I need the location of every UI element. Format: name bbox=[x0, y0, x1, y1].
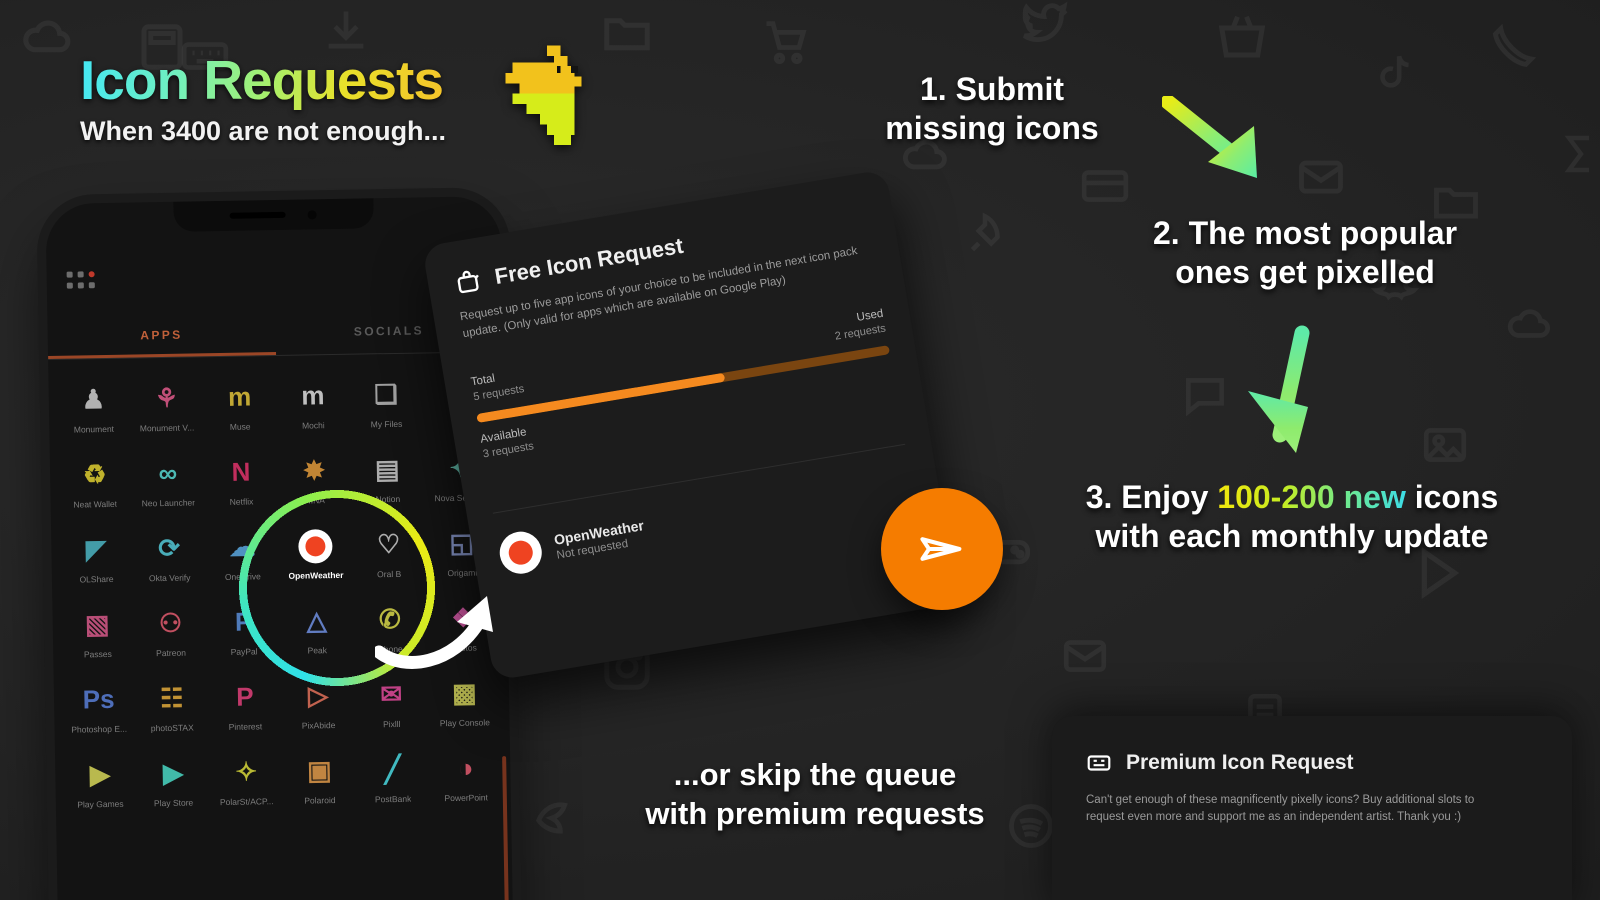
page-title: Icon Requests bbox=[80, 52, 446, 110]
app-icon-cell[interactable]: △Peak bbox=[280, 593, 354, 663]
app-glyph-icon: ⚇ bbox=[151, 604, 190, 643]
step-3-prefix: Enjoy bbox=[1121, 479, 1217, 515]
bg-twitter-icon bbox=[1020, 0, 1072, 52]
grid-dot bbox=[89, 282, 95, 288]
app-icon-cell[interactable]: ☷photoSTAX bbox=[135, 671, 209, 741]
app-icon-label: Muse bbox=[230, 421, 251, 431]
app-icon-cell[interactable]: ♟Monument bbox=[56, 372, 130, 442]
app-icon-cell[interactable]: ◤OLShare bbox=[59, 522, 133, 592]
bg-cloud3-icon bbox=[1505, 300, 1555, 350]
bg-dragon-icon bbox=[530, 790, 582, 842]
app-glyph-icon: ◤ bbox=[77, 530, 116, 569]
premium-card-description: Can't get enough of these magnificently … bbox=[1086, 792, 1506, 827]
app-icon-cell[interactable]: ▶Play Store bbox=[136, 746, 210, 816]
app-icon-label: OpenWeather bbox=[288, 569, 343, 580]
app-icon-label: Passes bbox=[84, 648, 112, 658]
request-item-text: OpenWeather Not requested bbox=[553, 517, 647, 562]
app-icon-cell[interactable]: OpenWeather bbox=[278, 518, 352, 588]
send-request-fab[interactable] bbox=[881, 488, 1003, 610]
app-icon-cell[interactable]: mMochi bbox=[276, 368, 350, 438]
app-glyph-icon: ♡ bbox=[369, 525, 408, 564]
app-icon-cell[interactable]: PPinterest bbox=[208, 669, 282, 739]
step-2-text: 2. The most popular ones get pixelled bbox=[1120, 214, 1490, 292]
openweather-dot bbox=[507, 539, 535, 567]
app-icon-cell[interactable]: ✉Pixlll bbox=[354, 667, 428, 737]
app-glyph-icon: ♻ bbox=[75, 455, 114, 494]
skip-queue-line-2: with premium requests bbox=[595, 795, 1035, 834]
grid-dot bbox=[78, 271, 84, 277]
app-glyph-icon: ▤ bbox=[368, 450, 407, 489]
grid-dot bbox=[67, 282, 73, 288]
curved-arrow-icon bbox=[375, 580, 505, 670]
step-1-text: 1. Submit missing icons bbox=[862, 70, 1122, 148]
progress-used-value: 2 requests bbox=[834, 322, 887, 345]
app-icon-label: Peak bbox=[308, 645, 328, 655]
app-icon-label: OneDrive bbox=[225, 571, 261, 582]
bg-basket-icon bbox=[1215, 10, 1269, 64]
app-icon-label: Pinterest bbox=[229, 721, 263, 732]
skip-queue-line-1: ...or skip the queue bbox=[595, 756, 1035, 795]
app-icon-cell[interactable]: ▷PixAbide bbox=[281, 668, 355, 738]
app-glyph-icon: m bbox=[294, 377, 333, 416]
bg-phone-icon bbox=[1490, 20, 1542, 72]
send-paper-plane-icon bbox=[916, 523, 968, 575]
grid-dot bbox=[67, 271, 73, 277]
app-glyph-icon: ▶ bbox=[81, 755, 120, 794]
app-icon-cell[interactable]: ⚘Monument V... bbox=[130, 371, 204, 441]
step-1-number: 1. bbox=[920, 71, 947, 107]
skip-queue-text: ...or skip the queue with premium reques… bbox=[595, 756, 1035, 834]
app-icon-label: Play Console bbox=[440, 717, 490, 728]
premium-icon-request-card[interactable]: Premium Icon Request Can't get enough of… bbox=[1052, 716, 1572, 900]
bg-rocket-icon bbox=[960, 210, 1010, 260]
app-icon-cell[interactable]: ▣Polaroid bbox=[282, 743, 356, 813]
app-icon-cell[interactable]: ▩Play Console bbox=[427, 666, 501, 736]
app-icon-label: Oral B bbox=[377, 568, 401, 578]
app-glyph-icon: P bbox=[224, 603, 263, 642]
app-glyph-icon: ╱ bbox=[373, 750, 412, 789]
bg-mail-icon bbox=[1295, 150, 1347, 202]
app-glyph-icon: ✉ bbox=[372, 675, 411, 714]
app-icon-cell[interactable]: ▶Play Games bbox=[63, 747, 137, 817]
bg-cloud-icon bbox=[20, 10, 76, 66]
app-glyph-icon: ◑ bbox=[446, 749, 485, 788]
bg-chat-icon bbox=[1180, 370, 1230, 420]
app-icon-label: Pixlll bbox=[383, 718, 401, 728]
app-glyph-icon: ▶ bbox=[154, 754, 193, 793]
app-icon-cell[interactable]: PsPhotoshop E... bbox=[62, 672, 136, 742]
app-icon-cell[interactable]: ✧PolarSt/ACP... bbox=[209, 744, 283, 814]
app-icon-cell[interactable]: NNetflix bbox=[204, 445, 278, 515]
step-3-highlight: 100-200 new bbox=[1217, 479, 1406, 515]
app-glyph-icon: ▧ bbox=[78, 605, 117, 644]
app-glyph-icon: ☷ bbox=[152, 679, 191, 718]
app-icon-label: PixAbide bbox=[302, 720, 336, 731]
app-icon-label: Monument bbox=[74, 423, 114, 434]
app-glyph-icon: ❑ bbox=[367, 375, 406, 414]
app-glyph-icon: ▩ bbox=[445, 674, 484, 713]
app-icon-cell[interactable]: PPayPal bbox=[207, 594, 281, 664]
pixel-bird-icon bbox=[485, 42, 595, 152]
app-icon-cell[interactable]: ▤Notion bbox=[350, 442, 424, 512]
app-icon-label: Origami bbox=[447, 567, 477, 578]
bg-cart-icon bbox=[760, 15, 812, 67]
grid-dots-icon[interactable] bbox=[67, 271, 95, 288]
app-icon-label: My Files bbox=[371, 418, 403, 429]
grid-dot bbox=[78, 282, 84, 288]
grid-dot-accent bbox=[89, 271, 95, 277]
app-icon-label: PayPal bbox=[231, 646, 258, 656]
app-glyph-icon: P bbox=[226, 678, 265, 717]
app-glyph-icon: N bbox=[222, 453, 261, 492]
app-icon-label: Netflix bbox=[230, 496, 254, 506]
app-icon-cell[interactable]: ◑PowerPoint bbox=[429, 741, 503, 811]
app-icon-cell[interactable]: ╱PostBank bbox=[356, 742, 430, 812]
openweather-icon bbox=[497, 528, 545, 576]
request-list-item[interactable]: OpenWeather Not requested bbox=[493, 445, 916, 577]
app-icon-label: photoSTAX bbox=[151, 722, 194, 733]
app-icon-label: Play Store bbox=[154, 797, 193, 808]
step-2-number: 2. bbox=[1153, 215, 1180, 251]
ticket-icon bbox=[1086, 750, 1112, 776]
app-icon-label: OLShare bbox=[79, 573, 113, 584]
app-glyph-icon: m bbox=[220, 378, 259, 417]
step-1-label: Submit missing icons bbox=[885, 71, 1098, 146]
bg-mail2-icon bbox=[1060, 630, 1110, 680]
app-icon-label: PostBank bbox=[375, 793, 412, 804]
step-3-text: 3. Enjoy 100-200 new icons with each mon… bbox=[1082, 478, 1502, 556]
app-icon-label: Patreon bbox=[156, 647, 186, 658]
app-glyph-icon: ▣ bbox=[300, 752, 339, 791]
bg-card-icon bbox=[1080, 160, 1130, 210]
app-glyph-icon: ✸ bbox=[295, 452, 334, 491]
page-subtitle: When 3400 are not enough... bbox=[80, 116, 446, 147]
app-icon-label: Play Games bbox=[77, 798, 123, 809]
app-icon-cell[interactable]: ♡Oral B bbox=[352, 517, 426, 587]
app-icon-label: Okta Verify bbox=[149, 572, 191, 583]
app-icon-cell[interactable]: ∞Neo Launcher bbox=[131, 446, 205, 516]
app-glyph-icon: ∞ bbox=[149, 454, 188, 493]
step-2-label: The most popular ones get pixelled bbox=[1175, 215, 1457, 290]
app-icon-label: PowerPoint bbox=[444, 792, 488, 803]
arrow-down-right-icon bbox=[1162, 96, 1272, 196]
page-header: Icon Requests When 3400 are not enough..… bbox=[80, 52, 446, 147]
app-icon-label: NINA bbox=[304, 495, 324, 505]
arrow-down-icon bbox=[1238, 325, 1328, 460]
app-icon-cell[interactable]: mMuse bbox=[203, 370, 277, 440]
app-icon-cell[interactable]: ☁OneDrive bbox=[205, 520, 279, 590]
app-icon-label: Notion bbox=[375, 493, 400, 503]
app-glyph-icon: Ps bbox=[79, 680, 118, 719]
app-icon-cell[interactable]: ❑My Files bbox=[349, 367, 423, 437]
premium-card-title: Premium Icon Request bbox=[1126, 751, 1354, 775]
progress-total: Total 5 requests bbox=[470, 368, 525, 405]
bg-tiktok-icon bbox=[1370, 50, 1420, 100]
app-icon-cell[interactable]: ⟳Okta Verify bbox=[132, 521, 206, 591]
app-icon-cell[interactable]: ⚇Patreon bbox=[133, 596, 207, 666]
app-icon-cell[interactable]: ▧Passes bbox=[60, 597, 134, 667]
app-icon-cell[interactable]: ♻Neat Wallet bbox=[58, 447, 132, 517]
app-glyph-icon: ▷ bbox=[299, 677, 338, 716]
app-icon-label: Neo Launcher bbox=[142, 497, 196, 508]
app-glyph-icon bbox=[296, 527, 335, 566]
app-glyph-icon: ✧ bbox=[227, 753, 266, 792]
gift-box-icon bbox=[452, 266, 484, 298]
app-icon-cell[interactable]: ✸NINA bbox=[277, 443, 351, 513]
app-glyph-icon: ♟ bbox=[74, 380, 113, 419]
app-icon-label: Polaroid bbox=[304, 795, 335, 806]
progress-used: Used 2 requests bbox=[831, 307, 886, 344]
app-icon-label: Monument V... bbox=[140, 422, 195, 433]
bg-sigma-icon bbox=[1555, 130, 1600, 178]
app-icon-label: Neat Wallet bbox=[73, 498, 117, 509]
app-icon-label: PolarSt/ACP... bbox=[220, 796, 274, 807]
step-3-number: 3. bbox=[1086, 479, 1113, 515]
app-icon-label: Mochi bbox=[302, 420, 325, 430]
app-glyph-icon: ☁ bbox=[223, 528, 262, 567]
tab-apps[interactable]: APPS bbox=[48, 326, 276, 356]
bg-image-icon bbox=[1420, 420, 1470, 470]
app-icon-label: Photoshop E... bbox=[71, 723, 127, 734]
premium-card-header: Premium Icon Request bbox=[1086, 750, 1538, 776]
app-glyph-icon: ⚘ bbox=[147, 379, 186, 418]
app-glyph-icon: △ bbox=[297, 602, 336, 641]
app-glyph-icon: ⟳ bbox=[150, 529, 189, 568]
bg-folder-icon bbox=[600, 5, 654, 59]
